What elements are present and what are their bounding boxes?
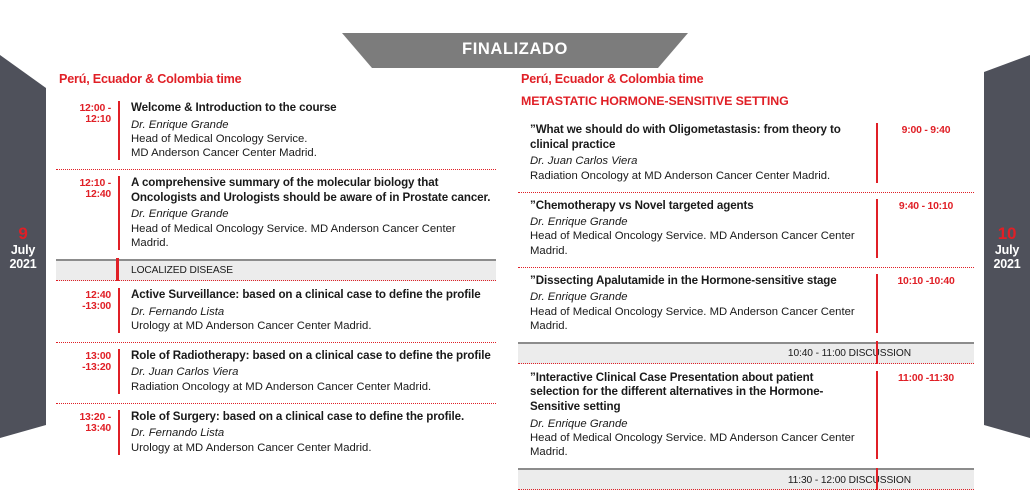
session-affiliation: Head of Medical Oncology Service. MD And… (530, 305, 865, 333)
session-body: ”What we should do with Oligometastasis:… (518, 123, 878, 183)
session-affiliation: Radiation Oncology at MD Anderson Cancer… (530, 169, 865, 183)
status-banner-label: FINALIZADO (462, 40, 568, 59)
session-speaker: Dr. Enrique Grande (530, 215, 865, 229)
session-time: 9:40 - 10:10 (878, 199, 974, 258)
day1-date-panel: 9 July 2021 (0, 0, 56, 450)
day2-column: Perú, Ecuador & Colombia time METASTATIC… (518, 72, 974, 490)
session-time: 9:00 - 9:40 (878, 123, 974, 183)
day1-date-stack: 9 July 2021 (0, 224, 46, 271)
day2-date-month: July (984, 243, 1030, 257)
discussion-band: 10:40 - 11:00 DISCUSSION (518, 342, 974, 364)
session-title: Role of Surgery: based on a clinical cas… (131, 410, 496, 425)
session-body: Active Surveillance: based on a clinical… (118, 288, 496, 333)
status-banner: FINALIZADO (342, 33, 688, 68)
session-row: ”What we should do with Oligometastasis:… (518, 116, 974, 192)
session-affiliation: Head of Medical Oncology Service. MD And… (131, 132, 496, 160)
session-title: Active Surveillance: based on a clinical… (131, 288, 496, 303)
session-title: Role of Radiotherapy: based on a clinica… (131, 349, 496, 364)
session-time: 12:10 - 12:40 (56, 176, 118, 250)
session-speaker: Dr. Enrique Grande (131, 118, 496, 132)
timeline-rule (876, 341, 879, 364)
section-band-label: LOCALIZED DISEASE (131, 265, 233, 276)
session-body: Role of Surgery: based on a clinical cas… (118, 410, 496, 455)
session-time: 12:00 - 12:10 (56, 101, 118, 160)
day2-date-panel-shape (974, 0, 1030, 450)
timeline-rule (876, 468, 879, 490)
session-body: A comprehensive summary of the molecular… (118, 176, 496, 250)
session-body: Welcome & Introduction to the courseDr. … (118, 101, 496, 160)
session-speaker: Dr. Enrique Grande (530, 290, 865, 304)
day1-date-panel-shape (0, 0, 56, 450)
session-time: 12:40 -13:00 (56, 288, 118, 333)
day2-date-year: 2021 (984, 257, 1030, 271)
session-affiliation: Head of Medical Oncology Service. MD And… (530, 431, 865, 459)
session-row: ”Dissecting Apalutamide in the Hormone-s… (518, 267, 974, 342)
session-row: 12:40 -13:00Active Surveillance: based o… (56, 281, 496, 342)
session-speaker: Dr. Juan Carlos Viera (131, 365, 496, 379)
session-affiliation: Head of Medical Oncology Service. MD And… (131, 222, 496, 250)
session-title: Welcome & Introduction to the course (131, 101, 496, 116)
session-body: ”Chemotherapy vs Novel targeted agentsDr… (518, 199, 878, 258)
session-time: 10:10 -10:40 (878, 274, 974, 333)
day2-date-panel: 10 July 2021 (974, 0, 1030, 450)
session-row: 12:10 - 12:40A comprehensive summary of … (56, 169, 496, 259)
session-time: 13:00 -13:20 (56, 349, 118, 394)
day2-date-day: 10 (984, 224, 1030, 243)
day1-date-month: July (0, 243, 46, 257)
session-body: Role of Radiotherapy: based on a clinica… (118, 349, 496, 394)
session-title: ”What we should do with Oligometastasis:… (530, 123, 865, 152)
session-body: ”Interactive Clinical Case Presentation … (518, 371, 878, 459)
session-affiliation: Radiation Oncology at MD Anderson Cancer… (131, 380, 496, 394)
session-row: ”Interactive Clinical Case Presentation … (518, 364, 974, 468)
timeline-rule (116, 258, 119, 281)
day1-timezone-heading: Perú, Ecuador & Colombia time (59, 72, 496, 86)
day1-date-day: 9 (0, 224, 46, 243)
session-affiliation: Urology at MD Anderson Cancer Center Mad… (131, 441, 496, 455)
day2-date-stack: 10 July 2021 (984, 224, 1030, 271)
session-speaker: Dr. Enrique Grande (131, 207, 496, 221)
section-band: LOCALIZED DISEASE (56, 259, 496, 281)
session-speaker: Dr. Fernando Lista (131, 305, 496, 319)
session-speaker: Dr. Fernando Lista (131, 426, 496, 440)
session-row: 12:00 - 12:10Welcome & Introduction to t… (56, 94, 496, 169)
day2-session-list: ”What we should do with Oligometastasis:… (518, 116, 974, 490)
day2-timezone-heading: Perú, Ecuador & Colombia time (521, 72, 974, 86)
session-title: A comprehensive summary of the molecular… (131, 176, 496, 205)
session-speaker: Dr. Juan Carlos Viera (530, 154, 865, 168)
day1-column: Perú, Ecuador & Colombia time 12:00 - 12… (56, 72, 496, 464)
discussion-band: 11:30 - 12:00 DISCUSSION (518, 468, 974, 490)
session-row: 13:20 - 13:40Role of Surgery: based on a… (56, 403, 496, 464)
session-affiliation: Head of Medical Oncology Service. MD And… (530, 229, 865, 257)
session-affiliation: Urology at MD Anderson Cancer Center Mad… (131, 319, 496, 333)
discussion-band-label: 11:30 - 12:00 DISCUSSION (788, 475, 911, 486)
session-title: ”Dissecting Apalutamide in the Hormone-s… (530, 274, 865, 289)
session-body: ”Dissecting Apalutamide in the Hormone-s… (518, 274, 878, 333)
agenda-page: 9 July 2021 10 July 2021 FINALIZADO Perú… (0, 0, 1030, 450)
session-row: 13:00 -13:20Role of Radiotherapy: based … (56, 342, 496, 403)
session-time: 11:00 -11:30 (878, 371, 974, 459)
day2-section-heading: METASTATIC HORMONE-SENSITIVE SETTING (521, 94, 974, 108)
session-title: ”Interactive Clinical Case Presentation … (530, 371, 865, 415)
session-title: ”Chemotherapy vs Novel targeted agents (530, 199, 865, 214)
session-speaker: Dr. Enrique Grande (530, 417, 865, 431)
day1-date-year: 2021 (0, 257, 46, 271)
discussion-band-label: 10:40 - 11:00 DISCUSSION (788, 348, 911, 359)
day1-session-list: 12:00 - 12:10Welcome & Introduction to t… (56, 94, 496, 464)
session-time: 13:20 - 13:40 (56, 410, 118, 455)
session-row: ”Chemotherapy vs Novel targeted agentsDr… (518, 192, 974, 267)
